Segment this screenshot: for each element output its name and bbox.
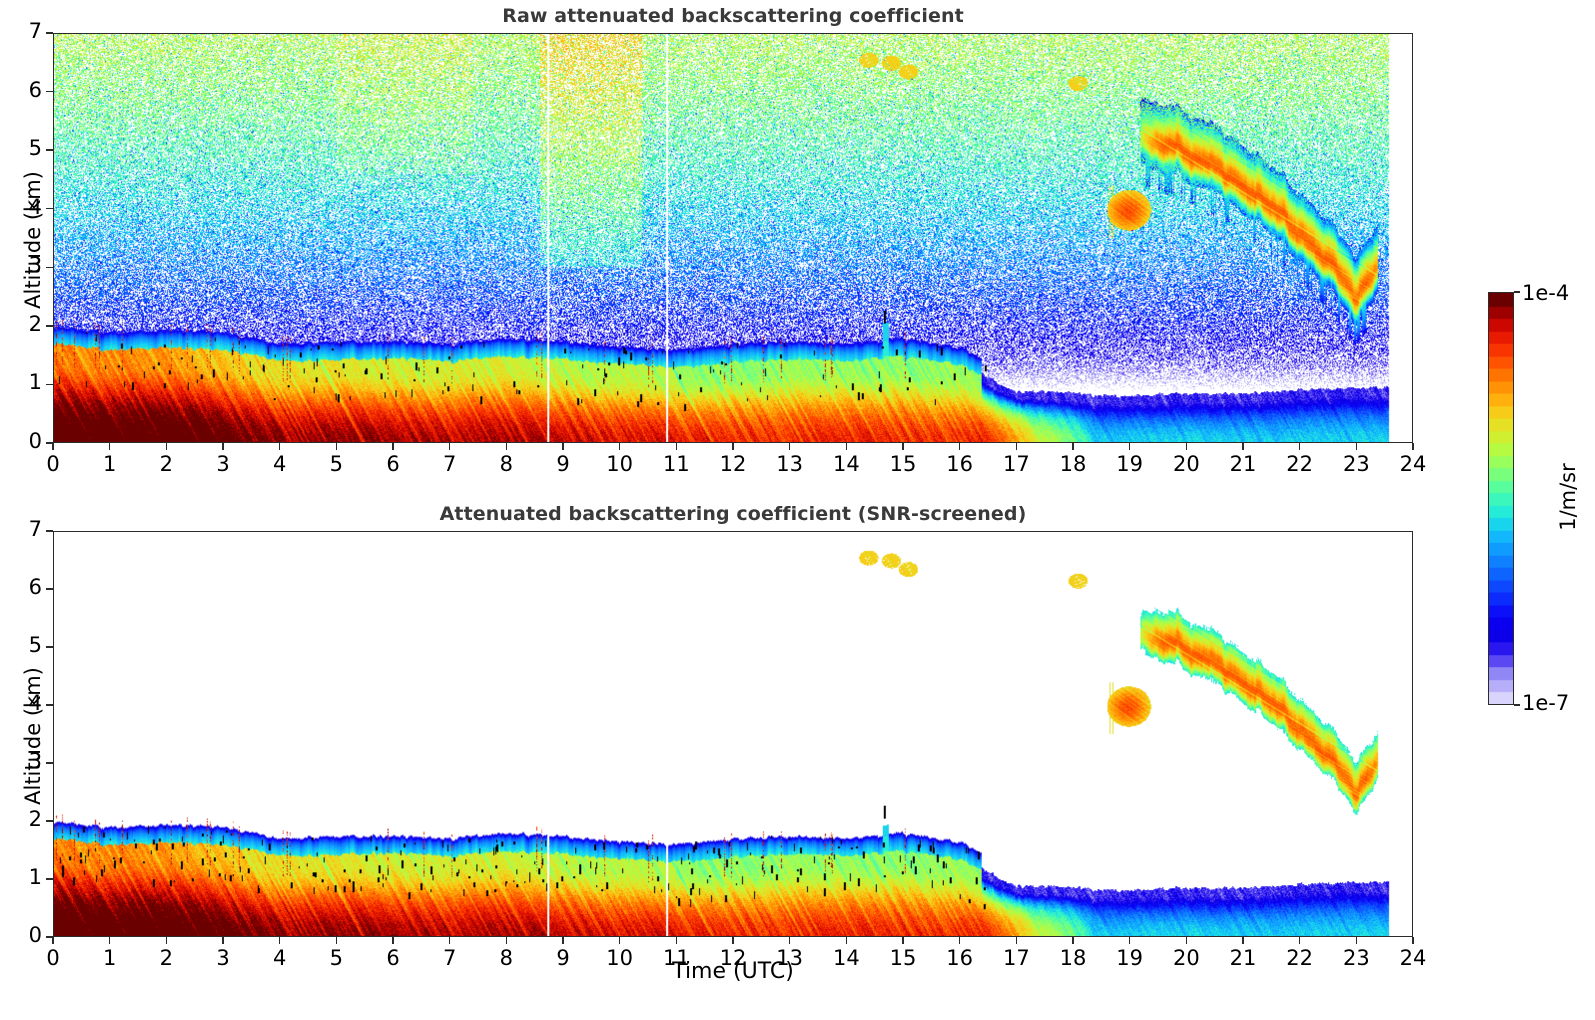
x-tick-label-11: 11: [654, 946, 698, 970]
x-tick-label-8: 8: [484, 452, 528, 476]
x-tick-6: [392, 443, 394, 450]
colorbar-canvas: [1489, 293, 1513, 704]
y-tick-6: [46, 588, 53, 590]
x-tick-label-21: 21: [1221, 946, 1265, 970]
x-tick-3: [222, 937, 224, 944]
y-tick-7: [46, 530, 53, 532]
y-tick-label-6: 6: [9, 78, 42, 102]
y-tick-3: [46, 267, 53, 269]
colorbar-max-label: 1e-4: [1522, 281, 1569, 305]
x-tick-label-21: 21: [1221, 452, 1265, 476]
plot-area-raw[interactable]: [53, 33, 1413, 443]
x-tick-label-20: 20: [1164, 452, 1208, 476]
x-tick-14: [846, 937, 848, 944]
x-tick-12: [732, 443, 734, 450]
x-tick-18: [1072, 443, 1074, 450]
y-tick-label-3: 3: [9, 253, 42, 277]
plot-area-screened[interactable]: [53, 531, 1413, 937]
x-tick-20: [1186, 937, 1188, 944]
x-tick-17: [1016, 443, 1018, 450]
x-tick-label-2: 2: [144, 946, 188, 970]
x-tick-label-17: 17: [994, 452, 1038, 476]
x-tick-8: [506, 443, 508, 450]
y-tick-label-2: 2: [9, 807, 42, 831]
x-tick-label-11: 11: [654, 452, 698, 476]
x-tick-label-24: 24: [1391, 946, 1435, 970]
x-tick-label-23: 23: [1334, 452, 1378, 476]
x-tick-label-17: 17: [994, 946, 1038, 970]
x-tick-22: [1299, 937, 1301, 944]
x-tick-13: [789, 937, 791, 944]
colorbar-min-label: 1e-7: [1522, 691, 1569, 715]
y-axis-label-raw: Altitude (km): [21, 155, 45, 325]
x-tick-label-18: 18: [1051, 946, 1095, 970]
x-tick-label-13: 13: [768, 946, 812, 970]
x-tick-19: [1129, 443, 1131, 450]
x-tick-4: [279, 443, 281, 450]
y-tick-label-6: 6: [9, 575, 42, 599]
y-tick-label-3: 3: [9, 749, 42, 773]
x-tick-label-14: 14: [824, 946, 868, 970]
x-tick-label-14: 14: [824, 452, 868, 476]
y-axis-label-screened: Altitude (km): [21, 651, 45, 821]
y-tick-label-7: 7: [9, 517, 42, 541]
y-tick-5: [46, 646, 53, 648]
x-tick-10: [619, 937, 621, 944]
y-tick-label-1: 1: [9, 865, 42, 889]
y-tick-4: [46, 208, 53, 210]
x-tick-label-10: 10: [598, 452, 642, 476]
panel-screened: Attenuated backscattering coefficient (S…: [0, 498, 1450, 998]
x-tick-label-8: 8: [484, 946, 528, 970]
x-tick-label-3: 3: [201, 452, 245, 476]
x-tick-0: [52, 937, 54, 944]
colorbar-gradient[interactable]: [1488, 292, 1514, 705]
x-tick-7: [449, 443, 451, 450]
x-tick-label-7: 7: [428, 452, 472, 476]
x-tick-label-5: 5: [314, 946, 358, 970]
y-tick-2: [46, 820, 53, 822]
x-tick-16: [959, 937, 961, 944]
x-tick-label-18: 18: [1051, 452, 1095, 476]
x-tick-13: [789, 443, 791, 450]
colorbar-tick-max: [1514, 291, 1520, 293]
y-tick-label-4: 4: [9, 195, 42, 219]
colorbar-tick-min: [1514, 704, 1520, 706]
x-tick-1: [109, 443, 111, 450]
x-tick-label-3: 3: [201, 946, 245, 970]
heatmap-raw: [54, 34, 1412, 442]
x-tick-23: [1356, 937, 1358, 944]
x-tick-label-0: 0: [31, 452, 75, 476]
x-tick-18: [1072, 937, 1074, 944]
panel-raw: Raw attenuated backscattering coefficien…: [0, 0, 1450, 490]
x-tick-21: [1242, 443, 1244, 450]
x-tick-24: [1412, 937, 1414, 944]
heatmap-screened: [54, 532, 1412, 936]
x-tick-label-22: 22: [1278, 452, 1322, 476]
x-tick-5: [336, 937, 338, 944]
x-tick-label-19: 19: [1108, 946, 1152, 970]
x-tick-label-16: 16: [938, 452, 982, 476]
panel-raw-title: Raw attenuated backscattering coefficien…: [53, 5, 1413, 27]
x-tick-20: [1186, 443, 1188, 450]
y-tick-7: [46, 32, 53, 34]
x-tick-label-0: 0: [31, 946, 75, 970]
x-tick-label-20: 20: [1164, 946, 1208, 970]
x-tick-label-2: 2: [144, 452, 188, 476]
x-tick-19: [1129, 937, 1131, 944]
x-tick-14: [846, 443, 848, 450]
x-tick-label-9: 9: [541, 452, 585, 476]
y-tick-5: [46, 149, 53, 151]
x-tick-9: [562, 443, 564, 450]
x-tick-label-6: 6: [371, 452, 415, 476]
y-tick-label-7: 7: [9, 19, 42, 43]
x-tick-15: [902, 937, 904, 944]
y-tick-label-5: 5: [9, 633, 42, 657]
y-tick-label-4: 4: [9, 691, 42, 715]
x-tick-5: [336, 443, 338, 450]
x-tick-2: [166, 937, 168, 944]
x-tick-3: [222, 443, 224, 450]
x-tick-label-13: 13: [768, 452, 812, 476]
x-tick-24: [1412, 443, 1414, 450]
x-tick-12: [732, 937, 734, 944]
x-tick-label-1: 1: [88, 946, 132, 970]
x-tick-label-1: 1: [88, 452, 132, 476]
x-tick-label-12: 12: [711, 946, 755, 970]
x-tick-11: [676, 443, 678, 450]
x-tick-2: [166, 443, 168, 450]
x-tick-label-15: 15: [881, 452, 925, 476]
x-tick-6: [392, 937, 394, 944]
y-tick-label-1: 1: [9, 370, 42, 394]
x-tick-0: [52, 443, 54, 450]
x-tick-label-4: 4: [258, 452, 302, 476]
x-tick-label-5: 5: [314, 452, 358, 476]
x-tick-16: [959, 443, 961, 450]
y-tick-1: [46, 384, 53, 386]
y-tick-4: [46, 704, 53, 706]
y-tick-label-5: 5: [9, 136, 42, 160]
x-tick-8: [506, 937, 508, 944]
x-tick-11: [676, 937, 678, 944]
x-tick-10: [619, 443, 621, 450]
x-tick-label-4: 4: [258, 946, 302, 970]
x-tick-9: [562, 937, 564, 944]
y-tick-1: [46, 878, 53, 880]
y-tick-label-0: 0: [9, 429, 42, 453]
y-tick-3: [46, 762, 53, 764]
panel-screened-title: Attenuated backscattering coefficient (S…: [53, 503, 1413, 525]
x-tick-15: [902, 443, 904, 450]
x-tick-label-15: 15: [881, 946, 925, 970]
x-tick-label-19: 19: [1108, 452, 1152, 476]
x-tick-label-12: 12: [711, 452, 755, 476]
x-tick-label-23: 23: [1334, 946, 1378, 970]
x-tick-1: [109, 937, 111, 944]
colorbar-units-label: 1/m/sr: [1556, 437, 1580, 557]
x-tick-21: [1242, 937, 1244, 944]
x-tick-4: [279, 937, 281, 944]
y-tick-2: [46, 325, 53, 327]
x-tick-label-16: 16: [938, 946, 982, 970]
x-tick-label-22: 22: [1278, 946, 1322, 970]
y-tick-6: [46, 91, 53, 93]
x-tick-label-10: 10: [598, 946, 642, 970]
x-tick-label-6: 6: [371, 946, 415, 970]
x-tick-22: [1299, 443, 1301, 450]
x-tick-label-24: 24: [1391, 452, 1435, 476]
x-tick-23: [1356, 443, 1358, 450]
x-tick-17: [1016, 937, 1018, 944]
x-tick-label-7: 7: [428, 946, 472, 970]
y-tick-label-2: 2: [9, 312, 42, 336]
colorbar: 1e-4 1e-7 1/m/sr: [1480, 280, 1595, 720]
y-tick-label-0: 0: [9, 923, 42, 947]
x-tick-7: [449, 937, 451, 944]
x-tick-label-9: 9: [541, 946, 585, 970]
